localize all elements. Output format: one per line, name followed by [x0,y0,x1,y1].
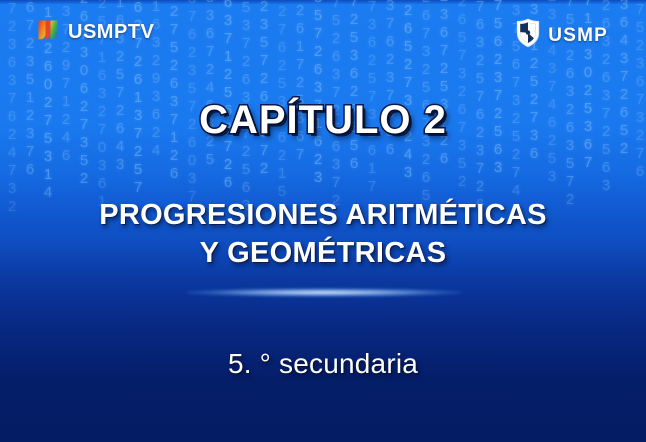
chapter-title: CAPÍTULO 2 [0,98,646,143]
digit-rain-column: 2 3 5 7 2 6 3 7 1 6 2 3 [310,0,326,187]
digit-rain-column: 3 6 7 2 5 3 6 2 7 3 5 6 [346,0,362,173]
usmptv-wordmark: USMPTV [68,21,154,44]
grade-label: 5. ° secundaria [0,348,646,380]
digit-rain-column: 7 6 2 3 5 7 2 6 4 3 7 2 [256,0,272,178]
subject-title-line-1: PROGRESIONES ARITMÉTICAS [0,196,646,234]
glow-divider [186,288,462,297]
digit-rain-column: 2 3 7 5 6 2 3 7 2 5 6 3 [490,0,506,177]
usmp-shield-crest-icon [515,18,541,53]
usmp-brand: USMP [515,18,608,53]
subject-title: PROGRESIONES ARITMÉTICAS Y GEOMÉTRICAS [0,196,646,272]
digit-rain-column: 2 3 7 5 2 3 6 7 3 2 7 6 [632,0,646,181]
digit-rain-column: 3 2 6 5 7 3 2 6 7 3 5 2 [454,0,470,191]
usmptv-book-logo-icon [36,18,60,47]
digit-rain-column: 2 6 3 7 1 2 5 6 3 7 2 6 [220,0,236,192]
digit-rain-column: 7 3 2 6 5 2 7 3 6 2 4 3 [400,0,416,182]
subject-title-line-2: Y GEOMÉTRICAS [0,234,646,272]
top-edge-strip [0,0,646,4]
digit-rain-column: 6 3 2 7 5 2 6 3 7 1 2 6 [166,0,182,183]
digit-rain-column: 7 2 5 3 6 7 2 4 6 3 2 5 [202,0,218,169]
usmp-wordmark: USMP [548,25,608,47]
usmptv-brand: USMPTV [36,18,154,47]
presentation-slide: 7 2 3 6 3 7 6 2 4 7 3 22 5 6 7 2 3 5 1 2… [0,0,646,442]
